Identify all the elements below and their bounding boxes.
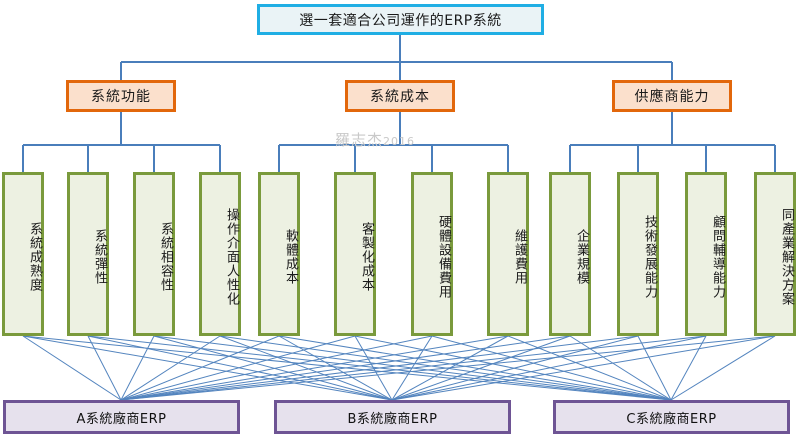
sub-criteria-label: 系統彈性 <box>91 229 106 285</box>
sub-criteria-node-customization-cost[interactable]: 客製化成本 <box>334 172 376 336</box>
criteria-label: 供應商能力 <box>635 86 710 106</box>
sub-criteria-label: 維護費用 <box>511 229 526 285</box>
alternative-node-b[interactable]: B系統廠商ERP <box>274 400 511 434</box>
sub-criteria-node-ui-usability[interactable]: 操作介面人性化 <box>199 172 241 336</box>
alternative-node-c[interactable]: C系統廠商ERP <box>553 400 790 434</box>
sub-criteria-label: 客製化成本 <box>358 222 373 292</box>
alternative-node-a[interactable]: A系統廠商ERP <box>3 400 240 434</box>
sub-criteria-label: 操作介面人性化 <box>223 208 238 306</box>
criteria-node-system-function[interactable]: 系統功能 <box>66 80 176 112</box>
goal-node[interactable]: 選一套適合公司運作的ERP系統 <box>257 4 544 35</box>
criteria-node-supplier-capability[interactable]: 供應商能力 <box>612 80 732 112</box>
alternative-label: C系統廠商ERP <box>626 408 716 427</box>
criteria-label: 系統功能 <box>91 86 151 106</box>
sub-criteria-node-system-compatibility[interactable]: 系統相容性 <box>133 172 175 336</box>
sub-criteria-label: 系統成熟度 <box>26 222 41 292</box>
sub-criteria-label: 硬體設備費用 <box>435 215 450 299</box>
alternative-label: A系統廠商ERP <box>77 408 167 427</box>
watermark-name: 羅志杰 <box>335 131 383 149</box>
criteria-node-system-cost[interactable]: 系統成本 <box>345 80 455 112</box>
sub-criteria-node-maintenance-cost[interactable]: 維護費用 <box>487 172 529 336</box>
sub-criteria-node-system-maturity[interactable]: 系統成熟度 <box>2 172 44 336</box>
sub-criteria-label: 技術發展能力 <box>641 215 656 299</box>
sub-criteria-node-system-flexibility[interactable]: 系統彈性 <box>67 172 109 336</box>
sub-criteria-node-hardware-cost[interactable]: 硬體設備費用 <box>411 172 453 336</box>
watermark: 羅志杰2016 <box>335 129 415 150</box>
sub-criteria-node-consulting-capability[interactable]: 顧問輔導能力 <box>685 172 727 336</box>
sub-criteria-label: 系統相容性 <box>157 222 172 292</box>
sub-criteria-label: 同產業解決方案 <box>778 208 793 306</box>
sub-criteria-label: 顧問輔導能力 <box>709 215 724 299</box>
sub-criteria-label: 企業規模 <box>573 229 588 285</box>
watermark-year: 2016 <box>383 135 415 148</box>
sub-criteria-node-industry-solution[interactable]: 同產業解決方案 <box>754 172 796 336</box>
sub-criteria-node-software-cost[interactable]: 軟體成本 <box>258 172 300 336</box>
criteria-label: 系統成本 <box>370 86 430 106</box>
sub-criteria-node-company-scale[interactable]: 企業規模 <box>549 172 591 336</box>
sub-criteria-label: 軟體成本 <box>282 229 297 285</box>
sub-criteria-node-tech-development[interactable]: 技術發展能力 <box>617 172 659 336</box>
alternative-label: B系統廠商ERP <box>347 408 437 427</box>
ahp-hierarchy-diagram: 羅志杰2016 選一套適合公司運作的ERP系統 系統功能 系統成本 供應商能力 … <box>0 0 800 438</box>
goal-label: 選一套適合公司運作的ERP系統 <box>299 10 502 30</box>
connector-lines <box>0 0 800 438</box>
